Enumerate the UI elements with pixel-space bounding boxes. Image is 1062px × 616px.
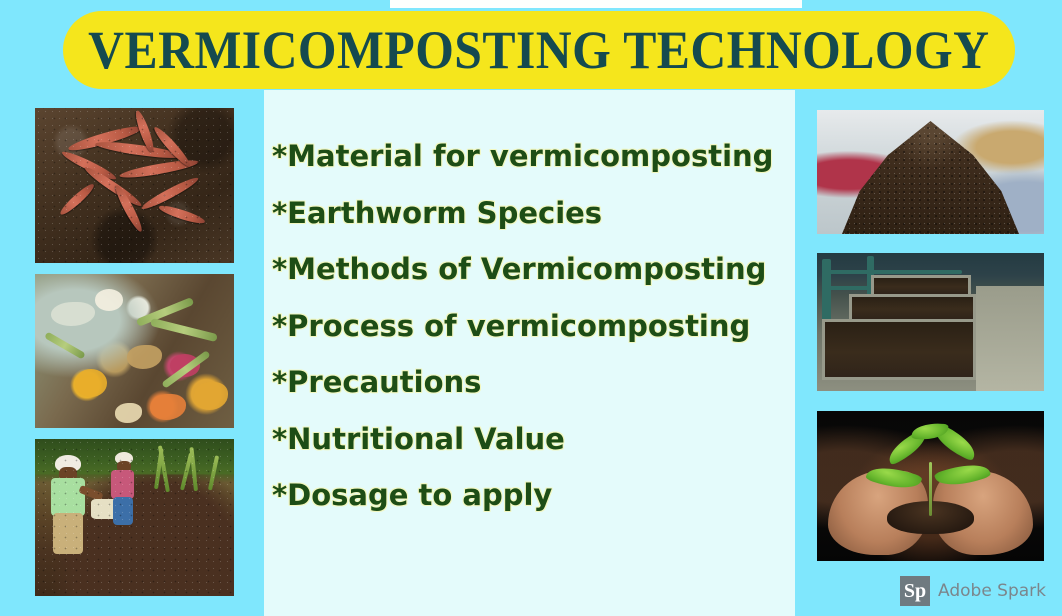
list-item: *Process of vermicomposting [272,298,792,355]
vermibed-scene [817,253,1044,391]
granule-texture [842,121,1019,234]
compost-mound [842,121,1019,234]
topic-list: *Material for vermicomposting *Earthworm… [272,128,792,524]
photo-earthworms-in-soil [35,108,234,263]
adobe-spark-watermark: Sp Adobe Spark [900,576,1046,606]
compost-heap-scene [817,110,1044,234]
soil-texture [35,108,234,263]
photo-hands-holding-seedling [817,411,1044,561]
earthworms-scene [35,108,234,263]
list-item: *Precautions [272,354,792,411]
page-title: VERMICOMPOSTING TECHNOLOGY [88,23,989,77]
seedling-scene [817,411,1044,561]
adobe-spark-icon: Sp [900,576,930,606]
adobe-spark-label: Adobe Spark [938,581,1046,601]
list-item: *Material for vermicomposting [272,128,792,185]
list-item: *Nutritional Value [272,411,792,468]
list-item: *Methods of Vermicomposting [272,241,792,298]
plant-stem [929,462,932,516]
poster-canvas: VERMICOMPOSTING TECHNOLOGY *Material for… [0,0,1062,616]
photo-kitchen-vegetable-waste [35,274,234,428]
list-item: *Earthworm Species [272,185,792,242]
photo-workers-compost-pile [35,439,234,596]
bed-floor [976,286,1044,391]
compost-pile-scene [35,439,234,596]
photo-vermicompost-beds [817,253,1044,391]
food-waste-scene [35,274,234,428]
photo-vermicompost-heap [817,110,1044,234]
soil-texture [35,439,234,596]
top-white-strip [390,0,802,8]
list-item: *Dosage to apply [272,467,792,524]
title-banner: VERMICOMPOSTING TECHNOLOGY [63,11,1015,89]
